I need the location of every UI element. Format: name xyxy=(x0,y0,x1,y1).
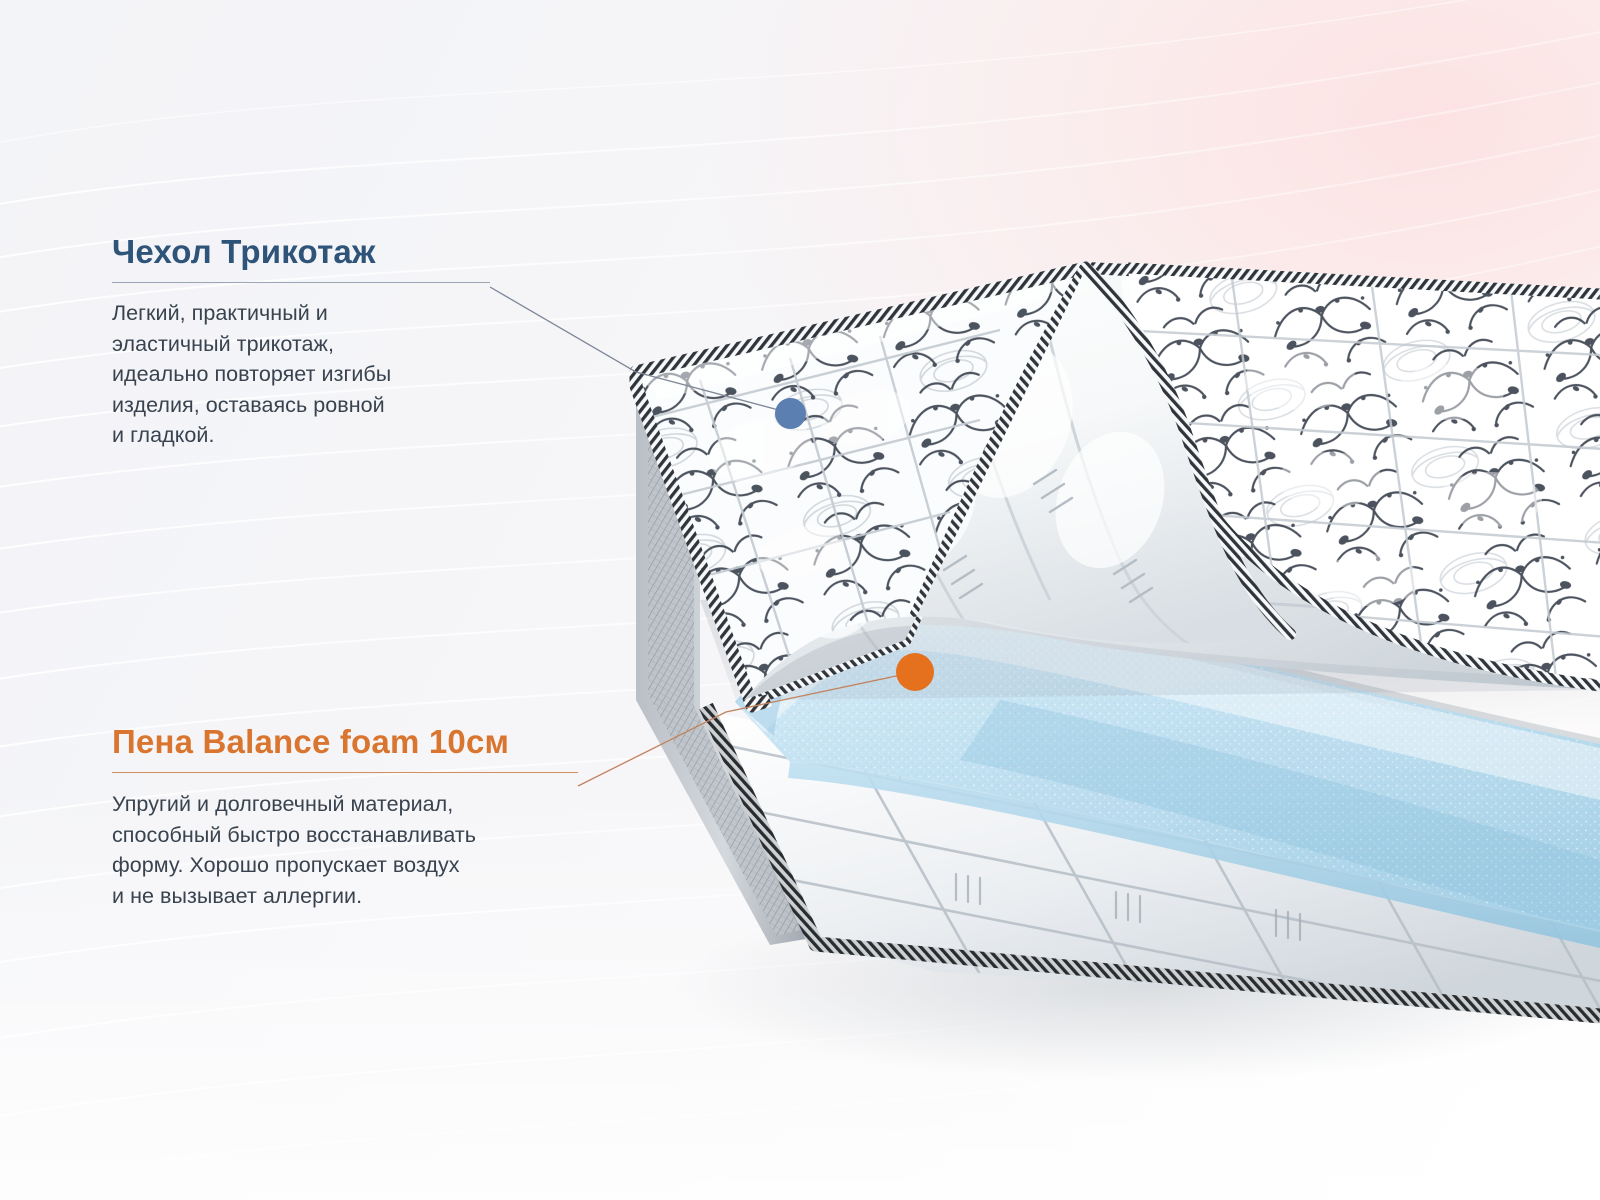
callout-cover: Чехол Трикотаж Легкий, практичный и элас… xyxy=(112,233,490,451)
mattress-illustration xyxy=(0,0,1600,1200)
callout-cover-title: Чехол Трикотаж xyxy=(112,233,490,271)
infographic-canvas: Чехол Трикотаж Легкий, практичный и элас… xyxy=(0,0,1600,1200)
callout-cover-body: Легкий, практичный и эластичный трикотаж… xyxy=(112,298,490,451)
callout-foam-body: Упругий и долговечный материал, способны… xyxy=(112,789,578,911)
callout-cover-divider xyxy=(112,282,490,283)
callout-foam-divider xyxy=(112,772,578,773)
callout-foam: Пена Balance foam 10см Упругий и долгове… xyxy=(112,723,578,911)
callout-foam-title: Пена Balance foam 10см xyxy=(112,723,578,761)
foam-marker-dot[interactable] xyxy=(896,653,934,691)
cover-marker-dot[interactable] xyxy=(775,398,806,429)
